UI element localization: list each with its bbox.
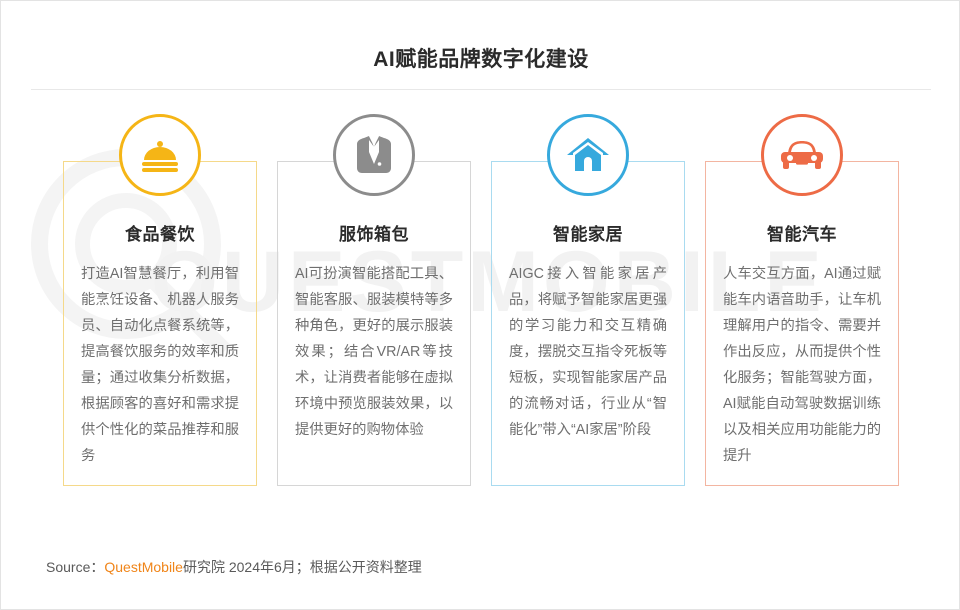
card-body: 打造AI智慧餐厅，利用智能烹饪设备、机器人服务员、自动化点餐系统等，提高餐饮服务… — [81, 261, 239, 469]
card-body: 人车交互方面，AI通过赋能车内语音助手，让车机理解用户的指令、需要并作出反应，从… — [723, 261, 881, 469]
home-house-icon — [547, 114, 629, 196]
source-footer: Source：QuestMobile研究院 2024年6月；根据公开资料整理 — [46, 557, 422, 577]
page-title: AI赋能品牌数字化建设 — [1, 43, 960, 73]
card-row: 食品餐饮 打造AI智慧餐厅，利用智能烹饪设备、机器人服务员、自动化点餐系统等，提… — [63, 161, 899, 486]
source-brand: QuestMobile — [104, 559, 183, 575]
card-body: AI可扮演智能搭配工具、智能客服、服装模特等多种角色，更好的展示服装效果；结合V… — [295, 261, 453, 443]
car-front-icon — [761, 114, 843, 196]
source-prefix: Source： — [46, 559, 104, 575]
suit-clothing-icon — [333, 114, 415, 196]
card-smart-home: 智能家居 AIGC接入智能家居产品，将赋予智能家居更强的学习能力和交互精确度，摆… — [491, 161, 685, 486]
card-title: 食品餐饮 — [81, 220, 239, 245]
source-suffix: 研究院 2024年6月；根据公开资料整理 — [183, 559, 422, 575]
card-food-beverage: 食品餐饮 打造AI智慧餐厅，利用智能烹饪设备、机器人服务员、自动化点餐系统等，提… — [63, 161, 257, 486]
title-divider — [31, 89, 931, 90]
card-title: 智能家居 — [509, 220, 667, 245]
slide-canvas: QUESTMOBILE AI赋能品牌数字化建设 食品餐饮 打造AI智慧餐厅，利用… — [0, 0, 960, 610]
card-apparel-bags: 服饰箱包 AI可扮演智能搭配工具、智能客服、服装模特等多种角色，更好的展示服装效… — [277, 161, 471, 486]
card-title: 智能汽车 — [723, 220, 881, 245]
card-smart-car: 智能汽车 人车交互方面，AI通过赋能车内语音助手，让车机理解用户的指令、需要并作… — [705, 161, 899, 486]
food-cloche-icon — [119, 114, 201, 196]
card-body: AIGC接入智能家居产品，将赋予智能家居更强的学习能力和交互精确度，摆脱交互指令… — [509, 261, 667, 443]
card-title: 服饰箱包 — [295, 220, 453, 245]
